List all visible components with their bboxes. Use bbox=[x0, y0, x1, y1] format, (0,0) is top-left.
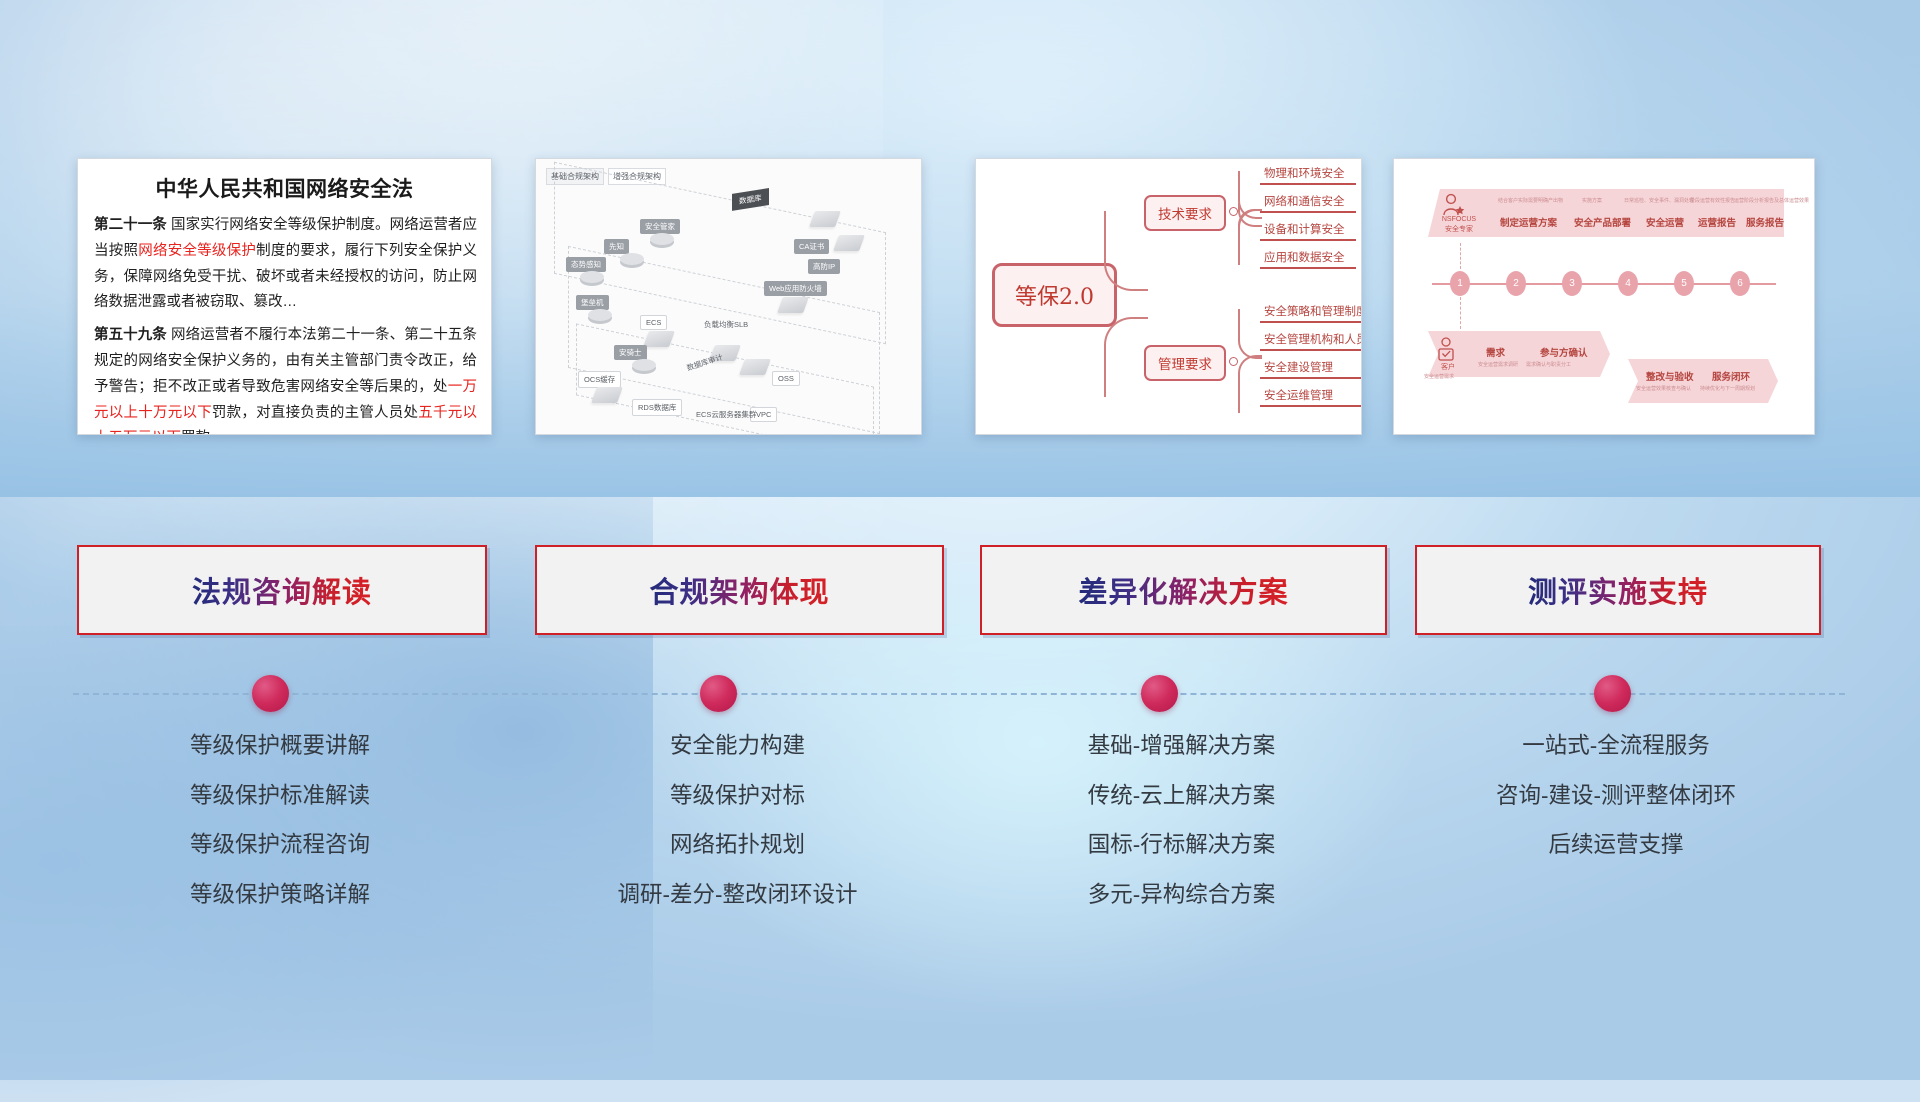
arch-disc-2 bbox=[580, 271, 604, 283]
law-paragraph: 第五十九条 网络运营者不履行本法第二十一条、第二十五条规定的网络安全保护义务的，… bbox=[94, 323, 477, 435]
arch-chip-3: 堡垒机 bbox=[576, 295, 609, 310]
detail-list-3: 一站式-全流程服务 咨询-建设-测评整体闭环 后续运营支撑 bbox=[1415, 735, 1817, 884]
mindmap-leaf-rule bbox=[1260, 405, 1362, 407]
arch-label-dbaudit: ECS云服务器集群 bbox=[696, 409, 756, 420]
list-item: 等级保护流程咨询 bbox=[77, 834, 483, 857]
law-text-highlight: 网络安全等级保护 bbox=[138, 243, 256, 259]
timeline-dash-1 bbox=[1460, 297, 1462, 329]
law-paragraph: 第二十一条 国家实行网络安全等级保护制度。网络运营者应当按照网络安全等级保护制度… bbox=[94, 213, 477, 316]
list-item: 等级保护标准解读 bbox=[77, 785, 483, 808]
arch-chip-waf: Web应用防火墙 bbox=[764, 281, 827, 296]
thumbnail-row: 中华人民共和国网络安全法 第二十一条 国家实行网络安全等级保护制度。网络运营者应… bbox=[0, 150, 1920, 440]
timeline-step-head-4: 服务报告 bbox=[1746, 215, 1784, 229]
architecture-diagram-card[interactable]: 基础合规架构 增强合规架构 数据库 安全管家 先知 态势感知 堡垒机 ECS 安… bbox=[535, 158, 922, 435]
timeline-marker-3[interactable]: 3 bbox=[1562, 271, 1582, 296]
arch-chip-ddos: 高防IP bbox=[808, 259, 840, 274]
mindmap-leaf-link bbox=[1238, 209, 1262, 265]
mindmap-leaf-rule bbox=[1260, 239, 1356, 241]
mindmap-leaf-mgmt-2: 安全建设管理 bbox=[1264, 359, 1333, 378]
timeline-step-head-2: 安全运营 bbox=[1646, 215, 1684, 229]
list-item: 国标-行标解决方案 bbox=[980, 834, 1383, 857]
list-item: 安全能力构建 bbox=[535, 735, 940, 758]
headline-box-1[interactable]: 合规架构体现 bbox=[535, 545, 944, 635]
mindmap-leaf-rule bbox=[1260, 321, 1362, 323]
detail-lists: 等级保护概要讲解 等级保护标准解读 等级保护流程咨询 等级保护策略详解 安全能力… bbox=[0, 735, 1920, 955]
detail-list-2: 基础-增强解决方案 传统-云上解决方案 国标-行标解决方案 多元-异构综合方案 bbox=[980, 735, 1383, 933]
law-card-body: 第二十一条 国家实行网络安全等级保护制度。网络运营者应当按照网络安全等级保护制度… bbox=[78, 213, 491, 435]
arch-label-slb: 负载均衡SLB bbox=[704, 319, 748, 330]
mindmap-branch-mgmt: 管理要求 bbox=[1144, 345, 1226, 381]
mindmap-connector-top bbox=[1104, 211, 1148, 291]
timeline-step-head-1: 安全产品部署 bbox=[1574, 215, 1631, 229]
timeline-canvas: NSFOCUS 安全专家 结合客户实际需要明确产出物 制定运营方案 实施方案 安… bbox=[1394, 159, 1814, 434]
list-item: 等级保护策略详解 bbox=[77, 884, 483, 907]
list-item: 基础-增强解决方案 bbox=[980, 735, 1383, 758]
mindmap-leaf-tech-1: 网络和通信安全 bbox=[1264, 193, 1345, 212]
timeline-node-1[interactable] bbox=[700, 675, 737, 712]
timeline-bottom-sub-4: 持续优化与下一周期规划 bbox=[1700, 385, 1755, 392]
law-article-number: 第二十一条 bbox=[94, 217, 167, 233]
timeline-marker-4[interactable]: 4 bbox=[1618, 271, 1638, 296]
timeline-step-head-0: 制定运营方案 bbox=[1500, 215, 1557, 229]
law-text: 罚款，对直接负责的主管人员处 bbox=[212, 405, 418, 421]
law-article-number: 第五十九条 bbox=[94, 327, 167, 343]
list-item: 传统-云上解决方案 bbox=[980, 785, 1383, 808]
headline-label-2: 差异化解决方案 bbox=[1078, 569, 1288, 611]
headline-box-2[interactable]: 差异化解决方案 bbox=[980, 545, 1387, 635]
timeline-step-sub-2: 日常巡检、安全事件、漏洞处理 bbox=[1624, 197, 1694, 204]
expert-badge-role: 安全专家 bbox=[1430, 225, 1488, 234]
detail-list-0: 等级保护概要讲解 等级保护标准解读 等级保护流程咨询 等级保护策略详解 bbox=[77, 735, 483, 933]
arch-disc-1 bbox=[620, 253, 644, 265]
mindmap-leaf-tech-0: 物理和环境安全 bbox=[1264, 165, 1345, 184]
timeline-bottom-label-0: 客户 bbox=[1428, 363, 1468, 372]
timeline-bottom-label-3: 整改与验收 bbox=[1646, 369, 1694, 383]
mindmap-leaf-tech-3: 应用和数据安全 bbox=[1264, 249, 1345, 268]
timeline-step-sub-0: 结合客户实际需要明确产出物 bbox=[1498, 197, 1563, 204]
timeline-bottom-label-4: 服务闭环 bbox=[1712, 369, 1750, 383]
list-item: 等级保护概要讲解 bbox=[77, 735, 483, 758]
timeline-step-sub-4: 运营阶段分析报告及总体运营效果 bbox=[1734, 197, 1809, 204]
mindmap-leaf-rule bbox=[1260, 267, 1356, 269]
arch-chip-rds: RDS数据库 bbox=[632, 399, 682, 416]
law-text-card[interactable]: 中华人民共和国网络安全法 第二十一条 国家实行网络安全等级保护制度。网络运营者应… bbox=[77, 158, 492, 435]
customer-person-icon bbox=[1436, 337, 1458, 363]
detail-list-1: 安全能力构建 等级保护对标 网络拓扑规划 调研-差分-整改闭环设计 bbox=[535, 735, 940, 933]
headline-row: 法规咨询解读 合规架构体现 差异化解决方案 测评实施支持 bbox=[0, 545, 1920, 645]
arch-chip-oss: OSS bbox=[772, 371, 800, 386]
arch-chip-4: 安骑士 bbox=[614, 345, 647, 360]
list-item: 一站式-全流程服务 bbox=[1415, 735, 1817, 758]
timeline-marker-6[interactable]: 6 bbox=[1730, 271, 1750, 296]
timeline-bottom-sub-3: 安全运营效果核查与确认 bbox=[1636, 385, 1691, 392]
timeline-marker-2[interactable]: 2 bbox=[1506, 271, 1526, 296]
arch-chip-ca: CA证书 bbox=[794, 239, 829, 254]
mindmap-leaf-link bbox=[1238, 355, 1262, 413]
timeline-bottom-sub-2: 需求确认与职责分工 bbox=[1526, 361, 1571, 368]
timeline-step-sub-1: 实施方案 bbox=[1582, 197, 1602, 204]
mindmap-leaf-link bbox=[1238, 309, 1262, 359]
mindmap-leaf-rule bbox=[1260, 349, 1362, 351]
expert-person-icon bbox=[1440, 193, 1466, 217]
timeline-step-sub-3: 阶段运营有效性报告 bbox=[1690, 197, 1735, 204]
timeline-node-2[interactable] bbox=[1141, 675, 1178, 712]
timeline-node-0[interactable] bbox=[252, 675, 289, 712]
mindmap-leaf-mgmt-1: 安全管理机构和人员 bbox=[1264, 331, 1362, 350]
timeline-dash-0 bbox=[1460, 243, 1462, 269]
headline-label-3: 测评实施支持 bbox=[1528, 569, 1708, 611]
list-item: 咨询-建设-测评整体闭环 bbox=[1415, 785, 1817, 808]
arch-chip-2: 态势感知 bbox=[566, 257, 606, 272]
arch-disc-0 bbox=[650, 233, 674, 245]
mindmap-root-node: 等保2.0 bbox=[992, 263, 1117, 327]
mindmap-leaf-rule bbox=[1260, 183, 1356, 185]
process-timeline bbox=[0, 655, 1920, 735]
timeline-marker-5[interactable]: 5 bbox=[1674, 271, 1694, 296]
mindmap-leaf-rule bbox=[1260, 211, 1356, 213]
mindmap-leaf-rule bbox=[1260, 377, 1362, 379]
mindmap-canvas: 等保2.0 技术要求 管理要求 物理和环境安全 网络和通信安全 设备和计算安全 … bbox=[976, 159, 1361, 434]
mindmap-leaf-mgmt-3: 安全运维管理 bbox=[1264, 387, 1333, 406]
law-card-title: 中华人民共和国网络安全法 bbox=[78, 173, 491, 203]
headline-box-0[interactable]: 法规咨询解读 bbox=[77, 545, 487, 635]
law-text: 罚款。 bbox=[181, 430, 225, 435]
list-item: 调研-差分-整改闭环设计 bbox=[535, 884, 940, 907]
expert-badge-brand: NSFOCUS bbox=[1430, 215, 1488, 224]
timeline-bottom-sub-0: 安全运营需求 bbox=[1424, 373, 1454, 380]
timeline-step-head-3: 运营报告 bbox=[1698, 215, 1736, 229]
mindmap-dot-tech bbox=[1229, 207, 1238, 216]
timeline-dashed-rule bbox=[73, 693, 1845, 695]
timeline-marker-1[interactable]: 1 bbox=[1450, 271, 1470, 296]
arch-chip-ocs: OCS缓存 bbox=[578, 371, 621, 388]
mindmap-leaf-tech-2: 设备和计算安全 bbox=[1264, 221, 1345, 240]
timeline-bottom-label-1: 需求 bbox=[1486, 345, 1505, 359]
timeline-axis bbox=[1432, 283, 1776, 285]
timeline-bottom-label-2: 参与方确认 bbox=[1540, 345, 1588, 359]
mindmap-dot-mgmt bbox=[1229, 357, 1238, 366]
arch-chip-ecs: ECS bbox=[640, 315, 667, 330]
mindmap-card[interactable]: 等保2.0 技术要求 管理要求 物理和环境安全 网络和通信安全 设备和计算安全 … bbox=[975, 158, 1362, 435]
headline-box-3[interactable]: 测评实施支持 bbox=[1415, 545, 1821, 635]
arch-chip-1: 先知 bbox=[604, 239, 629, 254]
arch-disc-3 bbox=[588, 309, 612, 321]
headline-label-1: 合规架构体现 bbox=[649, 569, 829, 611]
mindmap-leaf-mgmt-0: 安全策略和管理制度 bbox=[1264, 303, 1362, 322]
timeline-diagram-card[interactable]: NSFOCUS 安全专家 结合客户实际需要明确产出物 制定运营方案 实施方案 安… bbox=[1393, 158, 1815, 435]
mindmap-connector-bottom bbox=[1104, 317, 1148, 397]
list-item: 等级保护对标 bbox=[535, 785, 940, 808]
arch-chip-0: 安全管家 bbox=[640, 219, 680, 234]
list-item: 后续运营支撑 bbox=[1415, 834, 1817, 857]
mindmap-branch-tech: 技术要求 bbox=[1144, 195, 1226, 231]
timeline-bottom-sub-1: 安全运营需求调研 bbox=[1478, 361, 1518, 368]
arch-disc-4 bbox=[632, 359, 656, 371]
architecture-canvas: 基础合规架构 增强合规架构 数据库 安全管家 先知 态势感知 堡垒机 ECS 安… bbox=[536, 159, 921, 434]
headline-label-0: 法规咨询解读 bbox=[192, 569, 372, 611]
list-item: 网络拓扑规划 bbox=[535, 834, 940, 857]
timeline-node-3[interactable] bbox=[1594, 675, 1631, 712]
list-item: 多元-异构综合方案 bbox=[980, 884, 1383, 907]
